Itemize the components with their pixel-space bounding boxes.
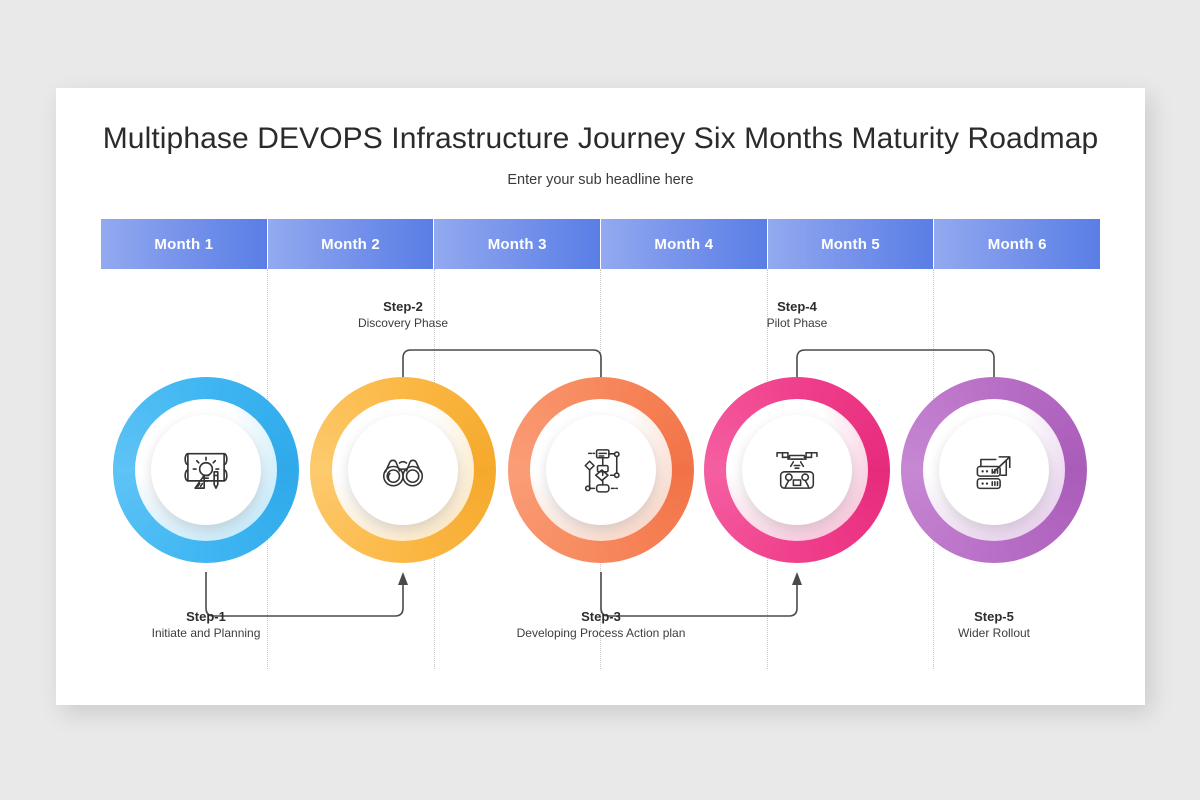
- step-node-2[interactable]: [310, 377, 496, 563]
- icon-disc: [742, 415, 852, 525]
- month-cell-3[interactable]: Month 3: [434, 219, 601, 269]
- month-cell-5[interactable]: Month 5: [768, 219, 935, 269]
- step-description: Pilot Phase: [677, 315, 917, 332]
- arrowhead-up-step4: [792, 572, 802, 585]
- step-title: Step-3: [481, 608, 721, 625]
- month-cell-6[interactable]: Month 6: [934, 219, 1100, 269]
- month-cell-2[interactable]: Month 2: [268, 219, 435, 269]
- step-label-1: Step-1 Initiate and Planning: [86, 608, 326, 642]
- page-title: Multiphase DEVOPS Infrastructure Journey…: [56, 122, 1145, 156]
- month-header-bar: Month 1 Month 2 Month 3 Month 4 Month 5 …: [101, 219, 1100, 269]
- drone-controller-icon: [768, 441, 826, 499]
- server-growth-icon: [966, 442, 1022, 498]
- month-label: Month 5: [821, 236, 880, 253]
- slide-card: Multiphase DEVOPS Infrastructure Journey…: [56, 88, 1145, 705]
- step-node-5[interactable]: [901, 377, 1087, 563]
- step-description: Wider Rollout: [874, 625, 1114, 642]
- arrowhead-up-step2: [398, 572, 408, 585]
- page-subtitle: Enter your sub headline here: [56, 172, 1145, 188]
- step-description: Discovery Phase: [283, 315, 523, 332]
- month-label: Month 2: [321, 236, 380, 253]
- month-label: Month 6: [988, 236, 1047, 253]
- step-title: Step-4: [677, 298, 917, 315]
- step-node-4[interactable]: [704, 377, 890, 563]
- icon-disc: [348, 415, 458, 525]
- month-cell-4[interactable]: Month 4: [601, 219, 768, 269]
- step-node-1[interactable]: [113, 377, 299, 563]
- step-label-4: Step-4 Pilot Phase: [677, 298, 917, 332]
- step-title: Step-5: [874, 608, 1114, 625]
- step-description: Developing Process Action plan: [481, 625, 721, 642]
- blueprint-idea-icon: [177, 441, 235, 499]
- step-title: Step-1: [86, 608, 326, 625]
- icon-disc: [546, 415, 656, 525]
- step-title: Step-2: [283, 298, 523, 315]
- month-cell-1[interactable]: Month 1: [101, 219, 268, 269]
- month-label: Month 3: [488, 236, 547, 253]
- step-label-2: Step-2 Discovery Phase: [283, 298, 523, 332]
- month-label: Month 4: [654, 236, 713, 253]
- step-node-3[interactable]: [508, 377, 694, 563]
- icon-disc: [151, 415, 261, 525]
- flowchart-icon: [573, 442, 629, 498]
- binoculars-icon: [375, 442, 431, 498]
- month-label: Month 1: [154, 236, 213, 253]
- step-description: Initiate and Planning: [86, 625, 326, 642]
- step-label-5: Step-5 Wider Rollout: [874, 608, 1114, 642]
- step-label-3: Step-3 Developing Process Action plan: [481, 608, 721, 642]
- icon-disc: [939, 415, 1049, 525]
